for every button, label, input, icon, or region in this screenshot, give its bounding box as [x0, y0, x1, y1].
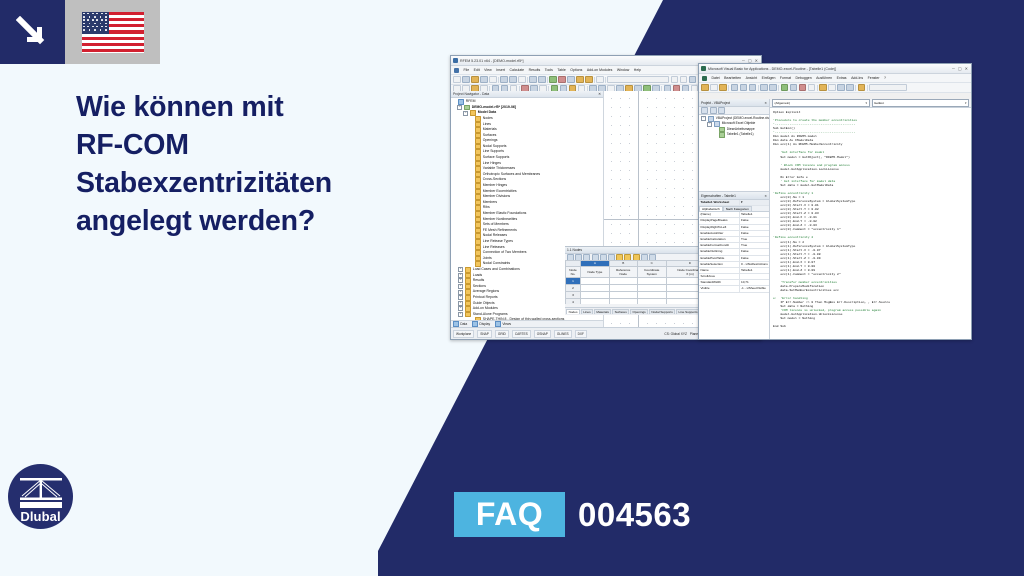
properties-panel-close-icon[interactable]: ✕: [764, 194, 767, 198]
code-procedure-combo[interactable]: GetEcc: [872, 99, 970, 107]
table-cell[interactable]: [581, 284, 610, 291]
properties-list[interactable]: (Name)Tabelle1DisplayPageBreaksFalseDisp…: [699, 212, 769, 339]
table-cell[interactable]: 1: [566, 277, 581, 284]
vba-editor-window: Microsoft Visual Basic for Applications …: [698, 63, 972, 340]
folder-icon: [475, 222, 482, 228]
view-object-icon[interactable]: [710, 107, 717, 114]
language-flag-badge[interactable]: [65, 0, 160, 64]
vba-menu-extras[interactable]: Extras: [837, 76, 847, 80]
faq-label: FAQ: [476, 496, 543, 533]
vba-menu-debuggen[interactable]: Debuggen: [796, 76, 812, 80]
property-key: DisplayRightToLeft: [699, 225, 740, 230]
property-value[interactable]: -1 - xlSheetVisible: [740, 286, 770, 291]
folder-icon: [475, 194, 482, 200]
vba-menu-format[interactable]: Format: [780, 76, 791, 80]
table-cell[interactable]: [581, 291, 610, 298]
vba-design-icon[interactable]: [808, 84, 816, 92]
sheet-tab-1[interactable]: Lines: [581, 309, 594, 314]
toolbar-redo-icon[interactable]: [538, 76, 546, 84]
vba-copy-icon[interactable]: [740, 84, 748, 92]
table-cell[interactable]: 2: [566, 284, 581, 291]
expander-icon[interactable]: +: [458, 295, 463, 300]
folder-icon: [475, 116, 482, 122]
toolbar-preview-icon[interactable]: [489, 76, 497, 84]
property-row-12[interactable]: Visible-1 - xlSheetVisible: [699, 286, 769, 292]
properties-object-label: Tabelle1 Worksheet: [699, 200, 740, 205]
sheet-tab-4[interactable]: Openings: [630, 309, 648, 314]
model-data-item-list[interactable]: NodesLinesMaterialsSurfacesOpeningsNodal…: [452, 116, 603, 267]
expander-icon[interactable]: −: [707, 122, 712, 127]
toolbar-paste-icon[interactable]: [518, 76, 526, 84]
col-header-0: Node No.: [566, 266, 581, 277]
property-key: EnableCalculation: [699, 237, 740, 242]
table-cell[interactable]: [609, 291, 637, 298]
folder-icon: [465, 278, 472, 284]
faq-badge: FAQ: [454, 492, 565, 537]
folder-icon: [465, 267, 472, 273]
folder-icon: [465, 295, 472, 301]
navigator-title-bar: Project Navigator - Data ✕: [451, 91, 603, 98]
navigator-tab-views[interactable]: Views: [495, 321, 511, 326]
vba-menu-bar[interactable]: Datei Bearbeiten Ansicht Einfügen Format…: [699, 74, 971, 83]
toolbar-calculate-icon[interactable]: [549, 76, 557, 84]
expander-icon[interactable]: −: [457, 105, 462, 110]
vba-body: Projekt - VBAProject ✕ − VBAProject (DEM…: [699, 99, 971, 339]
project-panel-close-icon[interactable]: ✕: [764, 101, 767, 105]
rfem-window-title: RFEM 5.23.01 x64 - [DEMO-model.rf5*]: [460, 59, 740, 63]
property-key: EnableAutoFilter: [699, 231, 740, 236]
vba-redo-icon[interactable]: [769, 84, 777, 92]
toolbar-x1-icon[interactable]: [689, 76, 697, 84]
vba-run-icon[interactable]: [781, 84, 789, 92]
code-editor-text[interactable]: Option Explicit 'Procedure to create the…: [770, 108, 971, 339]
vba-cut-icon[interactable]: [731, 84, 739, 92]
menu-item-view[interactable]: View: [484, 68, 492, 72]
headline-line-2: RF-COM: [76, 126, 406, 164]
property-value[interactable]: False: [740, 218, 770, 223]
menu-item-edit[interactable]: Edit: [474, 68, 480, 72]
minimize-icon[interactable]: ─: [952, 66, 955, 71]
view-code-icon[interactable]: [701, 107, 708, 114]
navigator-tabs[interactable]: Data Display Views: [451, 320, 603, 327]
headline-line-3: Stabexzentrizitäten: [76, 164, 406, 202]
navigator-tab-display[interactable]: Display: [472, 321, 490, 326]
property-value[interactable]: 0 - xlNoRestrictions: [740, 262, 770, 267]
project-tree-item-sheet1[interactable]: Tabelle1 (Tabelle1): [700, 132, 768, 137]
properties-panel-title: Eigenschaften - Tabelle1: [701, 194, 736, 198]
expander-icon[interactable]: +: [458, 267, 463, 272]
menu-item-window[interactable]: Window: [617, 68, 629, 72]
properties-panel-title-bar: Eigenschaften - Tabelle1 ✕: [699, 192, 769, 200]
table-cell[interactable]: [609, 284, 637, 291]
property-value[interactable]: [740, 274, 770, 279]
maximize-icon[interactable]: ▢: [958, 66, 962, 71]
property-value[interactable]: False: [740, 256, 770, 261]
vba-toolbox-icon[interactable]: [846, 84, 854, 92]
bridge-icon: [20, 478, 62, 500]
table-cell[interactable]: 3: [566, 291, 581, 298]
property-key: EnablePivotTable: [699, 256, 740, 261]
vba-stop-icon[interactable]: [799, 84, 807, 92]
status-cartes[interactable]: CARTES: [512, 330, 531, 338]
arrow-down-right-icon: [16, 16, 50, 50]
property-key: (Name): [699, 212, 740, 217]
menu-item-table[interactable]: Table: [557, 68, 565, 72]
vba-object-browser-icon[interactable]: [837, 84, 845, 92]
folder-icon: [465, 312, 472, 318]
expander-icon[interactable]: +: [458, 278, 463, 283]
vba-help-icon[interactable]: [858, 84, 866, 92]
vba-menu-logo-icon: [702, 76, 707, 81]
table-cell[interactable]: [637, 277, 666, 284]
vba-position-indicator: [869, 84, 907, 92]
folder-icon: [475, 239, 482, 245]
toolbar-separator: [547, 77, 548, 83]
rfem-root-icon: [458, 99, 465, 105]
property-key: EnableFormatCondit: [699, 243, 740, 248]
vba-save-icon[interactable]: [719, 84, 727, 92]
table-cell[interactable]: [581, 298, 610, 304]
vba-menu-einfuegen[interactable]: Einfügen: [762, 76, 776, 80]
toolbar-cut-icon[interactable]: [500, 76, 508, 84]
sheet-tab-6[interactable]: Line Supports: [676, 309, 700, 314]
expander-icon[interactable]: +: [458, 301, 463, 306]
menu-item-results[interactable]: Results: [529, 68, 541, 72]
application-screenshot: RFEM 5.23.01 x64 - [DEMO-model.rf5*] ─ ▢…: [450, 55, 970, 338]
vba-title-bar: Microsoft Visual Basic for Applications …: [699, 64, 971, 74]
toolbar-separator: [594, 77, 595, 83]
project-tree[interactable]: − VBAProject (DEMO-excel-Routine.xlsm) −…: [699, 115, 769, 192]
rfem-app-icon: [453, 58, 458, 63]
table-cell[interactable]: [609, 277, 637, 284]
navigator-title: Project Navigator - Data: [453, 92, 489, 96]
property-value[interactable]: False: [740, 231, 770, 236]
status-glines[interactable]: GLINES: [554, 330, 572, 338]
toolbar-new-icon[interactable]: [453, 76, 461, 84]
project-panel-title-bar: Projekt - VBAProject ✕: [699, 99, 769, 107]
vba-project-explorer-icon[interactable]: [819, 84, 827, 92]
vba-insert-icon[interactable]: [710, 84, 718, 92]
sheet-icon: [719, 132, 726, 138]
vba-menu-help[interactable]: ?: [884, 76, 886, 80]
close-icon[interactable]: ✕: [965, 66, 968, 71]
property-value[interactable]: Tabelle1: [740, 212, 770, 217]
status-snap[interactable]: SNAP: [477, 330, 492, 338]
vba-toolbar[interactable]: [699, 83, 971, 93]
headline-line-1: Wie können mit: [76, 88, 406, 126]
vba-menu-addins[interactable]: Add-Ins: [851, 76, 863, 80]
headline-line-4: angelegt werden?: [76, 202, 406, 240]
folder-icon: [465, 306, 472, 312]
navigator-tab-data[interactable]: Data: [453, 321, 467, 326]
property-value[interactable]: Tabelle1: [740, 268, 770, 273]
logo-deck: [20, 502, 62, 508]
project-panel-title: Projekt - VBAProject: [701, 101, 730, 105]
property-key: ScrollArea: [699, 274, 740, 279]
faq-number: 004563: [578, 492, 691, 537]
menu-logo-icon: [454, 68, 459, 73]
toolbar-copy-icon[interactable]: [509, 76, 517, 84]
code-object-combo[interactable]: (Allgemein): [772, 99, 870, 107]
folder-icon: [475, 211, 482, 217]
toggle-folders-icon[interactable]: [718, 107, 725, 114]
toolbar-separator: [527, 77, 528, 83]
menu-item-help[interactable]: Help: [634, 68, 641, 72]
menu-item-insert[interactable]: Insert: [496, 68, 505, 72]
toolbar-undo-icon[interactable]: [529, 76, 537, 84]
project-panel-toolbar[interactable]: [699, 107, 769, 115]
toolbar-render-icon[interactable]: [576, 76, 584, 84]
toolbar-lc-combo[interactable]: [607, 76, 669, 84]
folder-icon: [475, 127, 482, 133]
menu-item-tools[interactable]: Tools: [545, 68, 553, 72]
table-cell[interactable]: [581, 277, 610, 284]
status-grid[interactable]: GRID: [495, 330, 509, 338]
properties-tab-categorized[interactable]: Nach Kategorien: [723, 206, 752, 211]
sheet-tab-3[interactable]: Surfaces: [612, 309, 629, 314]
property-key: DisplayPageBreaks: [699, 218, 740, 223]
status-osnap[interactable]: OSNAP: [534, 330, 551, 338]
folder-icon: [475, 183, 482, 189]
table-cell[interactable]: 4: [566, 298, 581, 304]
toolbar-open-icon[interactable]: [462, 76, 470, 84]
expander-icon[interactable]: +: [458, 290, 463, 295]
folder-icon: [475, 250, 482, 256]
property-key: EnableSelection: [699, 262, 740, 267]
toolbar-render2-icon[interactable]: [585, 76, 593, 84]
toolbar-print-icon[interactable]: [480, 76, 488, 84]
toolbar-results-icon[interactable]: [558, 76, 566, 84]
table-cell[interactable]: [637, 298, 666, 304]
logo-wordmark: Dlubal: [8, 509, 73, 524]
property-key: EnableOutlining: [699, 249, 740, 254]
property-value[interactable]: False: [740, 249, 770, 254]
toolbar-separator: [498, 77, 499, 83]
folder-icon: [475, 155, 482, 161]
toolbar-more-icon[interactable]: [596, 76, 604, 84]
col-header-1: Node Type: [581, 266, 610, 277]
expander-icon[interactable]: +: [458, 312, 463, 317]
arrow-down-right-badge: [0, 0, 65, 64]
vba-app-icon: [701, 66, 706, 71]
expander-icon[interactable]: −: [463, 111, 468, 116]
tree-label: Tabelle1 (Tabelle1): [727, 132, 754, 137]
menu-item-options[interactable]: Options: [570, 68, 582, 72]
expander-icon[interactable]: −: [701, 116, 706, 121]
vba-paste-icon[interactable]: [749, 84, 757, 92]
vba-menu-datei[interactable]: Datei: [712, 76, 720, 80]
menu-item-addon-modules[interactable]: Add-on Modules: [587, 68, 613, 72]
vba-code-pane: (Allgemein) GetEcc Option Explicit 'Proc…: [770, 99, 971, 339]
property-key: StandardWidth: [699, 280, 740, 285]
status-dxf[interactable]: DXF: [575, 330, 587, 338]
property-value[interactable]: True: [740, 243, 770, 248]
expander-icon[interactable]: +: [458, 284, 463, 289]
sheet-tab-5[interactable]: Nodal Supports: [649, 309, 676, 314]
toolbar-separator: [605, 77, 606, 83]
status-coordinate-system: CS: Global XYZ: [664, 332, 687, 336]
table-cell[interactable]: [637, 284, 666, 291]
property-value[interactable]: True: [740, 237, 770, 242]
toolbar-nav-next-icon[interactable]: [680, 76, 688, 84]
vba-undo-icon[interactable]: [760, 84, 768, 92]
table-cell[interactable]: [609, 298, 637, 304]
status-workplane[interactable]: Workplane: [453, 330, 474, 338]
vba-pause-icon[interactable]: [790, 84, 798, 92]
slide-canvas: Wie können mit RF-COM Stabexzentrizitäte…: [0, 0, 1024, 576]
vba-menu-bearbeiten[interactable]: Bearbeiten: [724, 76, 741, 80]
menu-item-file[interactable]: File: [464, 68, 470, 72]
vba-view-excel-icon[interactable]: [701, 84, 709, 92]
toolbar-save-icon[interactable]: [471, 76, 479, 84]
vba-menu-fenster[interactable]: Fenster: [868, 76, 880, 80]
sheet-tab-2[interactable]: Materials: [594, 309, 612, 314]
property-value[interactable]: False: [740, 225, 770, 230]
vba-side-panels: Projekt - VBAProject ✕ − VBAProject (DEM…: [699, 99, 770, 339]
property-value[interactable]: 10,71: [740, 280, 770, 285]
vba-window-controls[interactable]: ─ ▢ ✕: [952, 66, 969, 71]
us-flag-icon: [82, 12, 144, 53]
vba-properties-icon[interactable]: [828, 84, 836, 92]
table-title: 1.1 Nodes: [567, 248, 582, 252]
vba-menu-ausfuehren[interactable]: Ausführen: [816, 76, 832, 80]
property-key: Name: [699, 268, 740, 273]
col-header-3: Coordinate System: [637, 266, 666, 277]
col-header-2: Reference Node: [609, 266, 637, 277]
property-key: Visible: [699, 286, 740, 291]
properties-tab-alphabetic[interactable]: Alphabetisch: [699, 206, 723, 211]
toolbar-zoom-icon[interactable]: [567, 76, 575, 84]
page-title: Wie können mit RF-COM Stabexzentrizitäte…: [76, 88, 406, 240]
table-cell[interactable]: [637, 291, 666, 298]
code-pane-header[interactable]: (Allgemein) GetEcc: [770, 99, 971, 108]
vba-menu-ansicht[interactable]: Ansicht: [746, 76, 757, 80]
expander-icon[interactable]: +: [458, 306, 463, 311]
dlubal-logo: Dlubal: [8, 464, 73, 529]
expander-icon[interactable]: +: [458, 273, 463, 278]
vba-window-title: Microsoft Visual Basic for Applications …: [708, 67, 950, 71]
toolbar-nav-prev-icon[interactable]: [671, 76, 679, 84]
menu-item-calculate[interactable]: Calculate: [509, 68, 524, 72]
navigator-close-icon[interactable]: ✕: [598, 92, 601, 96]
sheet-tab-0[interactable]: Nodes: [566, 309, 580, 314]
